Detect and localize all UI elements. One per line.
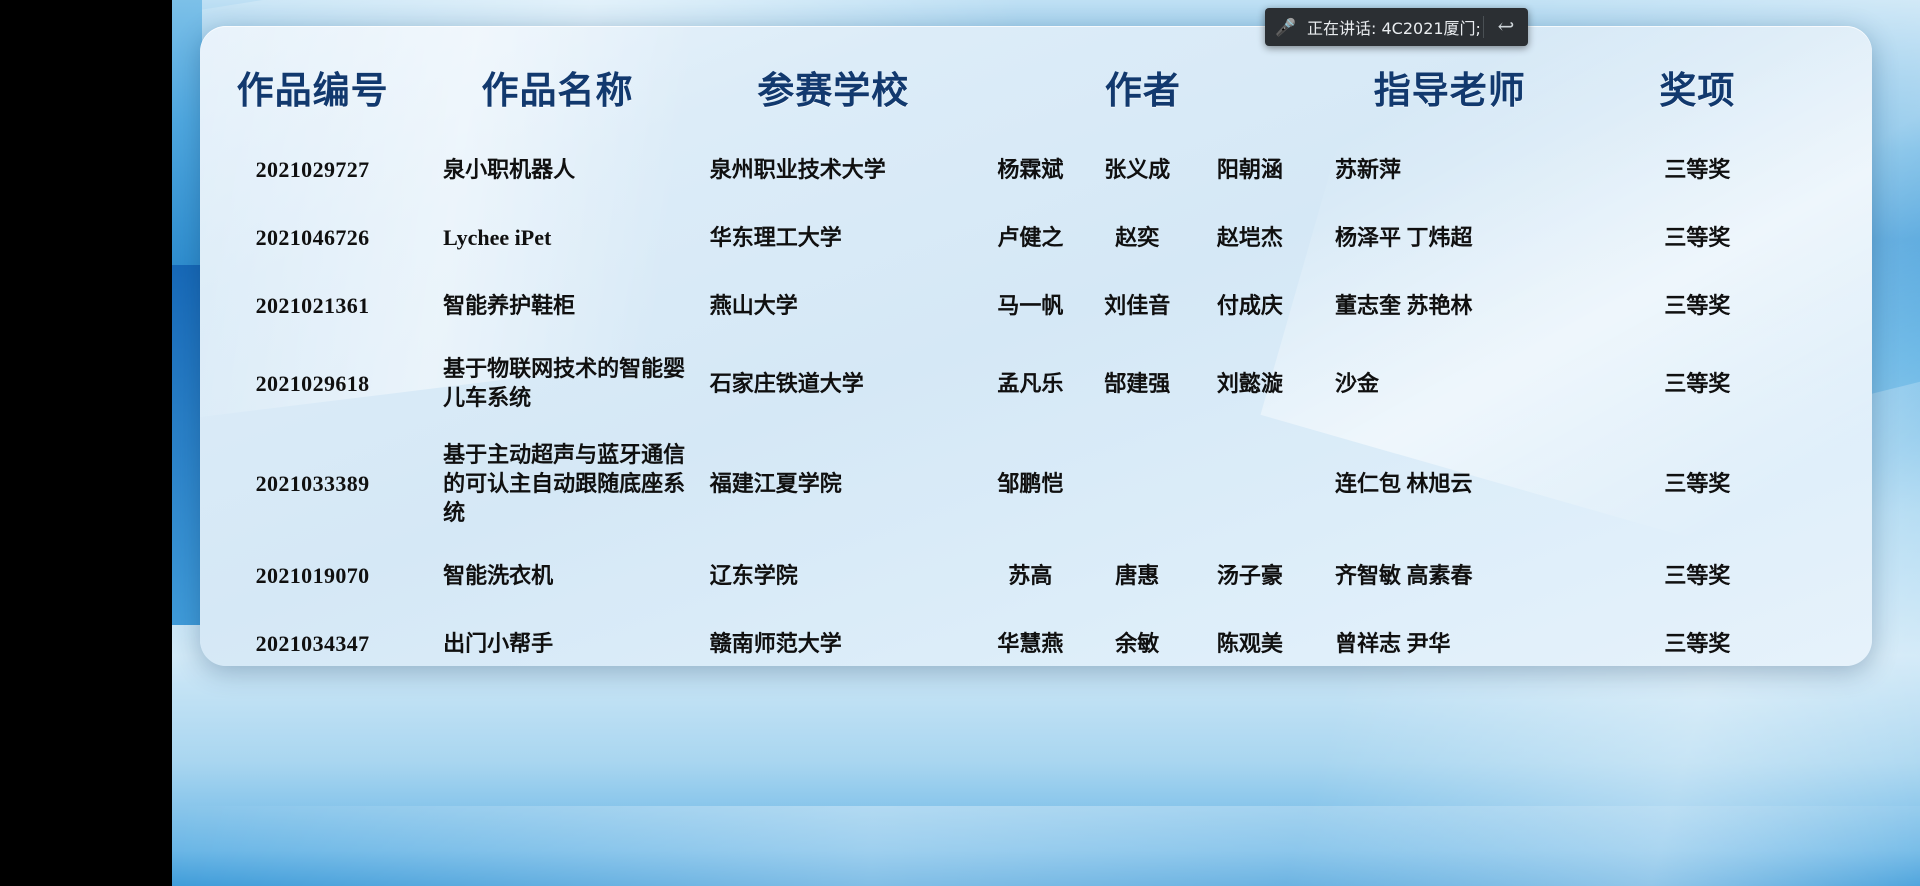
table-row: 2021033389基于主动超声与蓝牙通信的可认主自动跟随底座系统福建江夏学院邹…: [200, 426, 1872, 541]
cell-id: 2021033389: [200, 426, 425, 541]
cell-name: 出门小帮手: [425, 609, 690, 666]
cell-school: 辽东学院: [690, 541, 977, 609]
cell-spacer: [1804, 204, 1872, 272]
presentation-slide: 作品编号 作品名称 参赛学校 作者 指导老师 奖项 2021029727泉小职机…: [172, 0, 1920, 886]
cell-author-1: 马一帆: [977, 272, 1084, 340]
cell-school: 华东理工大学: [690, 204, 977, 272]
cell-award: 三等奖: [1590, 136, 1804, 204]
table-row: 2021021361智能养护鞋柜燕山大学马一帆刘佳音付成庆董志奎 苏艳林三等奖: [200, 272, 1872, 340]
cell-id: 2021034347: [200, 609, 425, 666]
table-row: 2021019070智能洗衣机辽东学院苏高唐惠汤子豪齐智敏 高素春三等奖: [200, 541, 1872, 609]
left-accent-bar: [172, 265, 202, 625]
cell-award: 三等奖: [1590, 609, 1804, 666]
cell-author-3: 陈观美: [1191, 609, 1309, 666]
active-speaker-label: 正在讲话: 4C2021厦门;: [1307, 15, 1483, 39]
column-header-authors: 作者: [977, 26, 1309, 136]
microphone-icon: 🎤: [1265, 19, 1307, 36]
cell-name: 泉小职机器人: [425, 136, 690, 204]
column-header-award: 奖项: [1590, 26, 1804, 136]
cell-name: 智能洗衣机: [425, 541, 690, 609]
cell-id: 2021029618: [200, 340, 425, 426]
cell-author-1: 孟凡乐: [977, 340, 1084, 426]
cell-award: 三等奖: [1590, 204, 1804, 272]
cell-author-1: 卢健之: [977, 204, 1084, 272]
cell-name: 基于物联网技术的智能婴儿车系统: [425, 340, 690, 426]
screen-root: 作品编号 作品名称 参赛学校 作者 指导老师 奖项 2021029727泉小职机…: [0, 0, 1920, 886]
cell-spacer: [1804, 609, 1872, 666]
cell-spacer: [1804, 272, 1872, 340]
cell-author-1: 苏高: [977, 541, 1084, 609]
cell-advisor: 连仁包 林旭云: [1309, 426, 1590, 541]
cell-advisor: 齐智敏 高素春: [1309, 541, 1590, 609]
table-body: 2021029727泉小职机器人泉州职业技术大学杨霖斌张义成阳朝涵苏新萍三等奖2…: [200, 136, 1872, 666]
left-accent-bar: [172, 0, 202, 120]
cell-award: 三等奖: [1590, 272, 1804, 340]
cell-author-1: 杨霖斌: [977, 136, 1084, 204]
cell-author-3: 付成庆: [1191, 272, 1309, 340]
cell-spacer: [1804, 426, 1872, 541]
active-speaker-overlay[interactable]: 🎤 正在讲话: 4C2021厦门; ↩: [1265, 8, 1528, 46]
cell-author-3: 汤子豪: [1191, 541, 1309, 609]
cell-author-3: [1191, 426, 1309, 541]
cell-name: 智能养护鞋柜: [425, 272, 690, 340]
cell-author-2: 郜建强: [1084, 340, 1191, 426]
column-header-name: 作品名称: [425, 26, 690, 136]
cell-author-2: 唐惠: [1084, 541, 1191, 609]
cell-advisor: 董志奎 苏艳林: [1309, 272, 1590, 340]
cell-author-1: 华慧燕: [977, 609, 1084, 666]
cell-name: 基于主动超声与蓝牙通信的可认主自动跟随底座系统: [425, 426, 690, 541]
cell-id: 2021021361: [200, 272, 425, 340]
cell-award: 三等奖: [1590, 340, 1804, 426]
table-row: 2021029727泉小职机器人泉州职业技术大学杨霖斌张义成阳朝涵苏新萍三等奖: [200, 136, 1872, 204]
award-table: 作品编号 作品名称 参赛学校 作者 指导老师 奖项 2021029727泉小职机…: [200, 26, 1872, 666]
table-row: 2021029618基于物联网技术的智能婴儿车系统石家庄铁道大学孟凡乐郜建强刘懿…: [200, 340, 1872, 426]
table-row: 2021034347出门小帮手赣南师范大学华慧燕余敏陈观美曾祥志 尹华三等奖: [200, 609, 1872, 666]
table-header: 作品编号 作品名称 参赛学校 作者 指导老师 奖项: [200, 26, 1872, 136]
cell-author-3: 赵垲杰: [1191, 204, 1309, 272]
cell-award: 三等奖: [1590, 426, 1804, 541]
cell-school: 赣南师范大学: [690, 609, 977, 666]
cell-author-2: 张义成: [1084, 136, 1191, 204]
cell-spacer: [1804, 136, 1872, 204]
cell-author-2: 余敏: [1084, 609, 1191, 666]
background-streak: [172, 806, 1920, 886]
table-row: 2021046726Lychee iPet华东理工大学卢健之赵奕赵垲杰杨泽平 丁…: [200, 204, 1872, 272]
cell-author-2: [1084, 426, 1191, 541]
reply-arrow-icon[interactable]: ↩: [1484, 17, 1528, 37]
cell-author-1: 邹鹏恺: [977, 426, 1084, 541]
cell-school: 石家庄铁道大学: [690, 340, 977, 426]
award-list-card: 作品编号 作品名称 参赛学校 作者 指导老师 奖项 2021029727泉小职机…: [200, 26, 1872, 666]
cell-author-3: 刘懿漩: [1191, 340, 1309, 426]
cell-spacer: [1804, 340, 1872, 426]
cell-name: Lychee iPet: [425, 204, 690, 272]
cell-spacer: [1804, 541, 1872, 609]
column-header-spacer: [1804, 26, 1872, 136]
cell-school: 福建江夏学院: [690, 426, 977, 541]
cell-school: 燕山大学: [690, 272, 977, 340]
cell-advisor: 杨泽平 丁炜超: [1309, 204, 1590, 272]
cell-school: 泉州职业技术大学: [690, 136, 977, 204]
cell-id: 2021046726: [200, 204, 425, 272]
cell-author-2: 刘佳音: [1084, 272, 1191, 340]
cell-id: 2021029727: [200, 136, 425, 204]
cell-advisor: 苏新萍: [1309, 136, 1590, 204]
cell-author-2: 赵奕: [1084, 204, 1191, 272]
left-accent-bar: [172, 120, 202, 265]
cell-author-3: 阳朝涵: [1191, 136, 1309, 204]
column-header-id: 作品编号: [200, 26, 425, 136]
column-header-school: 参赛学校: [690, 26, 977, 136]
left-accent-bar: [172, 625, 202, 886]
cell-award: 三等奖: [1590, 541, 1804, 609]
cell-advisor: 沙金: [1309, 340, 1590, 426]
cell-advisor: 曾祥志 尹华: [1309, 609, 1590, 666]
cell-id: 2021019070: [200, 541, 425, 609]
